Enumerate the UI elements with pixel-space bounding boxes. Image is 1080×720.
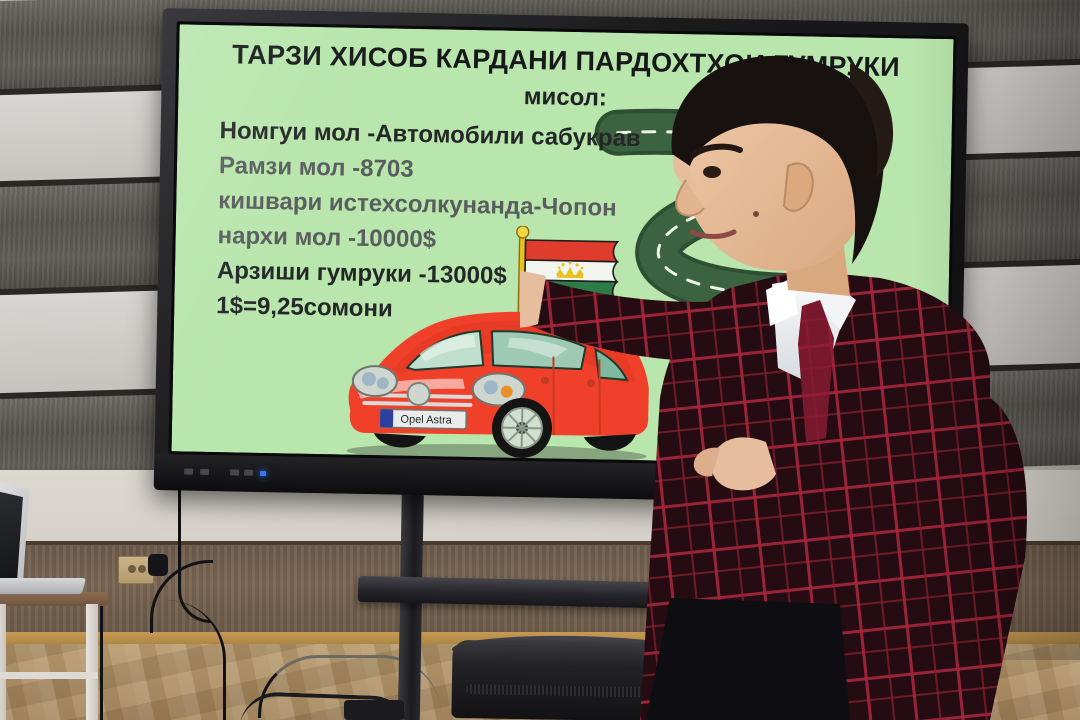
power-plug[interactable] <box>148 554 168 576</box>
side-table-leg-left <box>0 604 6 720</box>
power-cable-segment-3 <box>100 600 226 720</box>
tv-power-button[interactable] <box>244 470 253 476</box>
side-table-leg-right <box>86 604 98 720</box>
presentation-scene: Opel Astra ТАРЗИ ХИСОБ КАРДАНИ ПАРДОХТХО… <box>0 0 1080 720</box>
presenter-head <box>672 56 893 271</box>
presenter-trousers <box>646 598 850 720</box>
tv-stand-foot <box>344 700 404 720</box>
tv-menu-button[interactable] <box>184 468 193 474</box>
presenter-eye <box>703 166 721 178</box>
tv-power-led-icon <box>260 471 266 476</box>
presenter-pointing-arm <box>520 270 746 362</box>
corner-shading <box>910 0 1080 660</box>
license-plate-text: Opel Astra <box>400 414 452 427</box>
laptop-keyboard-base[interactable] <box>0 578 86 594</box>
tv-source-button[interactable] <box>200 469 209 475</box>
side-table-rail <box>0 672 98 679</box>
tv-volume-button[interactable] <box>230 469 239 475</box>
outlet-socket-holes <box>128 565 136 573</box>
